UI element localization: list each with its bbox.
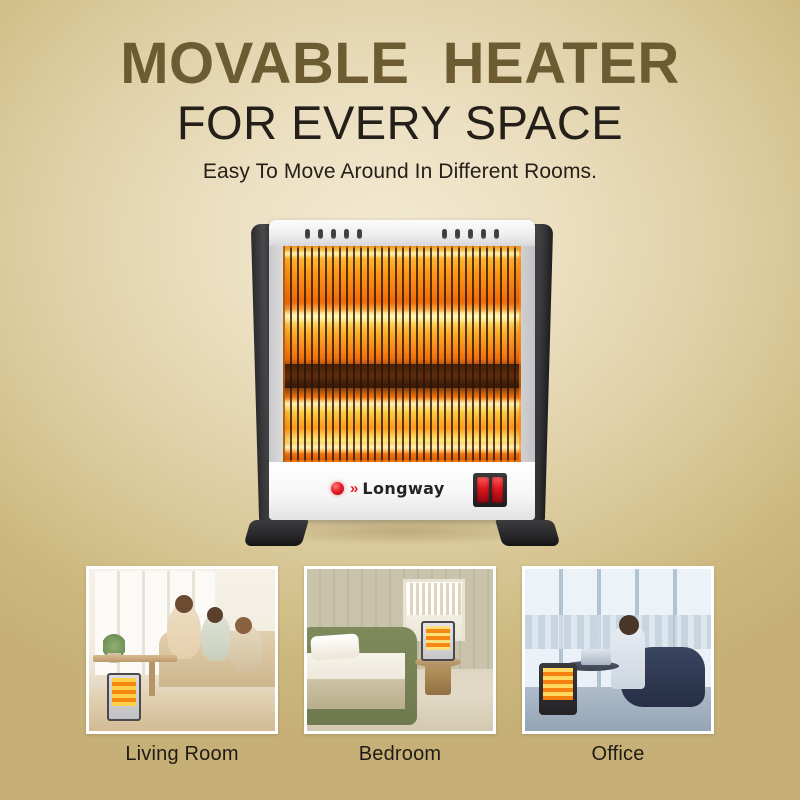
scene-image-living-room[interactable] [86,566,278,734]
product-poster: MOVABLE HEATER FOR EVERY SPACE Easy To M… [0,0,800,800]
scene-image-office[interactable] [522,566,714,734]
person-head [175,595,193,613]
curtain [407,583,461,615]
vent-slot-icon [481,229,486,239]
scene-card-living-room: Living Room [86,566,278,766]
rocker-switch[interactable] [477,477,489,503]
scene-card-office: Office [522,566,714,766]
chevron-double-right-icon: » [350,481,356,496]
vent-slot-icon [455,229,460,239]
heater-foot-left [243,520,308,546]
scene-image-bedroom[interactable] [304,566,496,734]
living-room-scene [89,569,275,731]
brand-logo: » Longway [331,479,445,498]
person-head [619,615,639,635]
office-scene [525,569,711,731]
usage-scenes: Living Room Bedroom [86,566,714,766]
bed-throw [304,679,405,709]
power-led-icon [331,482,344,495]
heater-in-scene [421,621,455,661]
vent-slot-icon [305,229,310,239]
laptop [581,649,611,665]
rocker-switch[interactable] [492,477,504,503]
vent-slot-icon [494,229,499,239]
heater-control-panel: » Longway [269,462,535,520]
person-head [207,607,223,623]
heater-foot-right [495,520,560,546]
scene-caption: Office [522,743,714,766]
brand-name: Longway [362,479,444,498]
heater-in-scene [539,663,577,715]
scene-card-bedroom: Bedroom [304,566,496,766]
grille-frame [283,246,521,462]
pillow [310,633,360,660]
scene-caption: Bedroom [304,743,496,766]
headline-subtitle: Easy To Move Around In Different Rooms. [0,159,800,185]
stool-base [425,665,451,695]
heater-vent-group-right [442,229,499,239]
heater-vent-group-left [305,229,362,239]
vent-slot-icon [331,229,336,239]
heater-product-image: » Longway [247,218,557,548]
heater-in-scene [107,673,141,721]
vent-slot-icon [344,229,349,239]
vent-slot-icon [442,229,447,239]
scene-caption: Living Room [86,743,278,766]
plant [103,633,125,655]
heater-glowing-grille [283,246,521,462]
vent-slot-icon [357,229,362,239]
bedroom-scene [307,569,493,731]
vent-slot-icon [318,229,323,239]
table-leg [149,662,155,696]
vent-slot-icon [468,229,473,239]
headline-primary: MOVABLE HEATER [0,34,800,94]
coffee-table [93,655,177,662]
heater-body: » Longway [269,220,535,520]
headline-block: MOVABLE HEATER FOR EVERY SPACE Easy To M… [0,34,800,185]
person-seated [611,627,645,689]
person-head [235,617,252,634]
heater-top-panel [269,220,535,246]
headline-secondary: FOR EVERY SPACE [0,96,800,150]
power-switch-panel[interactable] [473,473,507,507]
